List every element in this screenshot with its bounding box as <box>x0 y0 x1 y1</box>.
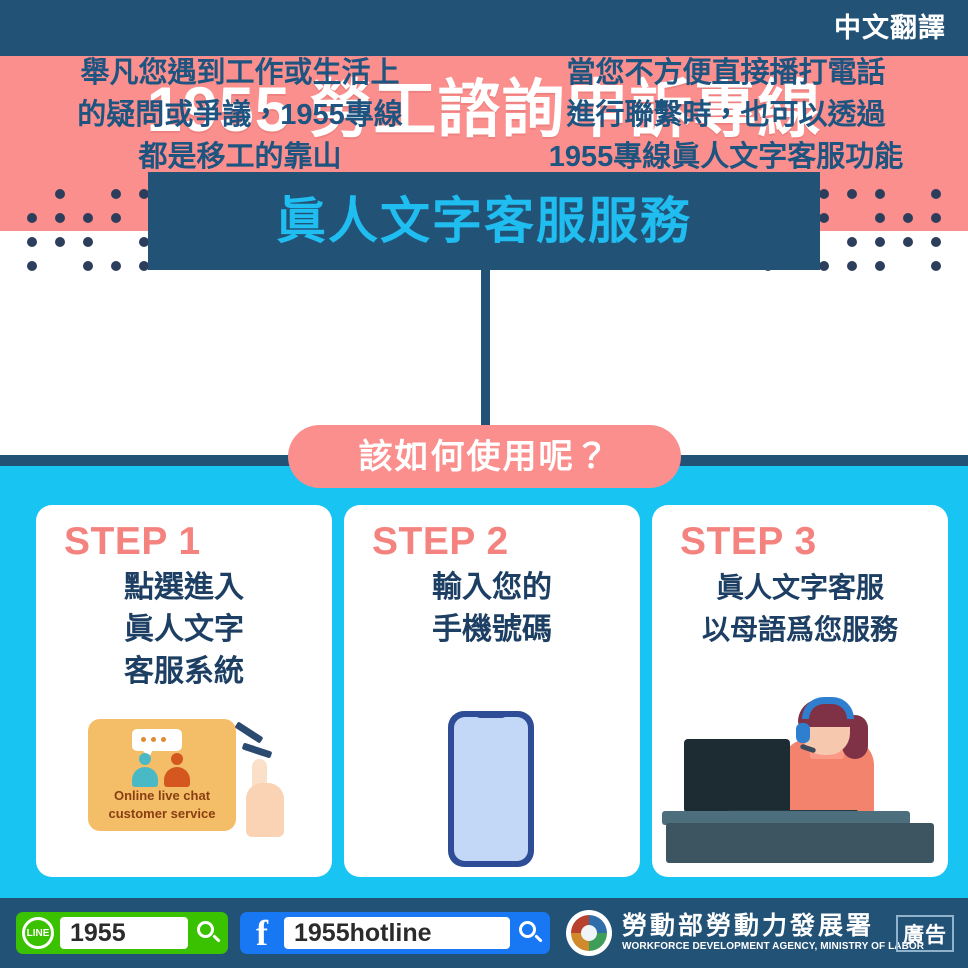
search-icon[interactable] <box>516 919 544 947</box>
description-left-line-1: 舉凡您遇到工作或生活上 <box>14 52 466 94</box>
step-3-body: 眞人文字客服 以母語爲您服務 <box>652 567 948 651</box>
step-card-1: STEP 1 點選進入 眞人文字 客服系統 Online l <box>36 505 332 877</box>
chat-caption-line-1: Online live chat <box>88 787 236 805</box>
step-2-illustration <box>344 697 640 877</box>
chat-caption-line-2: customer service <box>88 805 236 823</box>
translation-label: 中文翻譯 <box>834 6 946 50</box>
agency-branding: 勞動部勞動力發展署 WORKFORCE DEVELOPMENT AGENCY, … <box>566 910 924 956</box>
step-3-line-2: 以母語爲您服務 <box>652 609 948 651</box>
top-bar: 中文翻譯 <box>0 0 968 56</box>
step-1-line-1: 點選進入 <box>36 567 332 609</box>
facebook-account-name: 1955hotline <box>284 917 510 949</box>
step-2-body: 輸入您的 手機號碼 <box>344 567 640 651</box>
step-card-2: STEP 2 輸入您的 手機號碼 <box>344 505 640 877</box>
step-3-illustration <box>652 697 948 877</box>
line-account-badge[interactable]: LINE 1955 <box>16 912 228 954</box>
sub-banner-text: 眞人文字客服服務 <box>276 194 692 248</box>
description-column-left: 舉凡您遇到工作或生活上 的疑問或爭議，1955專線 都是移工的靠山 <box>14 52 466 178</box>
sub-banner: 眞人文字客服服務 <box>148 172 820 270</box>
facebook-logo-icon: f <box>246 915 278 951</box>
line-logo-icon: LINE <box>22 917 54 949</box>
agency-names: 勞動部勞動力發展署 WORKFORCE DEVELOPMENT AGENCY, … <box>622 912 924 954</box>
smartphone-icon <box>448 711 534 867</box>
tap-spark-icon-1 <box>235 721 264 743</box>
agency-name-zh: 勞動部勞動力發展署 <box>622 912 924 940</box>
agency-seal-icon <box>566 910 612 956</box>
line-account-name: 1955 <box>60 917 188 949</box>
description-column-right: 當您不方便直接播打電話 進行聯繫時，也可以透過 1955專線眞人文字客服功能 <box>500 52 952 178</box>
poster-root: 中文翻譯 1955 勞工諮詢申訴專線 舉凡您遇到工作或生活上 的疑問或爭議，19… <box>0 0 968 968</box>
person-icon-customer <box>132 753 158 787</box>
step-2-line-2: 手機號碼 <box>344 609 640 651</box>
question-pill-text: 該如何使用呢？ <box>359 438 611 476</box>
typing-dots-icon <box>141 737 166 742</box>
question-pill: 該如何使用呢？ <box>288 425 681 488</box>
facebook-account-badge[interactable]: f 1955hotline <box>240 912 550 954</box>
desk-icon <box>666 823 934 863</box>
pointing-hand-icon <box>242 759 290 837</box>
chat-card-caption: Online live chat customer service <box>88 787 236 823</box>
step-1-label: STEP 1 <box>64 519 201 565</box>
description-right-line-1: 當您不方便直接播打電話 <box>500 52 952 94</box>
description-left-line-2: 的疑問或爭議，1955專線 <box>14 94 466 136</box>
search-icon[interactable] <box>194 919 222 947</box>
speech-bubble-icon <box>132 729 182 751</box>
headset-earcup-icon <box>796 723 810 743</box>
person-icon-agent <box>164 753 190 787</box>
description-right-line-2: 進行聯繫時，也可以透過 <box>500 94 952 136</box>
step-1-illustration: Online live chat customer service <box>36 697 332 877</box>
step-1-body: 點選進入 眞人文字 客服系統 <box>36 567 332 693</box>
step-3-label: STEP 3 <box>680 519 817 565</box>
step-1-line-2: 眞人文字 <box>36 609 332 651</box>
monitor-icon <box>684 739 790 813</box>
step-3-line-1: 眞人文字客服 <box>652 567 948 609</box>
step-2-label: STEP 2 <box>372 519 509 565</box>
step-card-3: STEP 3 眞人文字客服 以母語爲您服務 <box>652 505 948 877</box>
ad-badge: 廣告 <box>896 915 954 952</box>
tap-spark-icon-2 <box>242 743 273 759</box>
agency-name-en: WORKFORCE DEVELOPMENT AGENCY, MINISTRY O… <box>622 940 924 954</box>
footer-bar: LINE 1955 f 1955hotline 勞動部勞動力發展署 WORKFO… <box>0 898 968 968</box>
online-chat-card-icon: Online live chat customer service <box>88 719 236 831</box>
step-2-line-1: 輸入您的 <box>344 567 640 609</box>
step-1-line-3: 客服系統 <box>36 651 332 693</box>
